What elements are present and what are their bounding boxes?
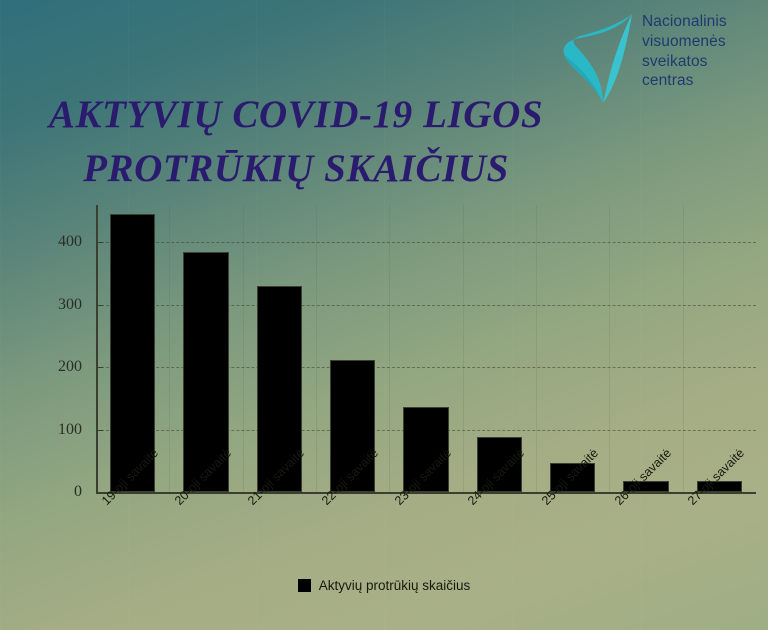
logo-text: Nacionalinis visuomenės sveikatos centra…	[642, 12, 727, 91]
chart-legend: Aktyvių protrūkių skaičius	[0, 578, 768, 593]
title-line-1: AKTYVIŲ COVID-19 LIGOS	[0, 88, 592, 142]
vertical-gridline	[243, 205, 244, 492]
gridline-400	[96, 242, 756, 243]
nvsc-swoosh-logo-icon	[562, 8, 636, 104]
vertical-gridline	[463, 205, 464, 492]
y-axis-label-0: 0	[74, 483, 96, 501]
y-tick-200	[96, 367, 103, 368]
y-axis-label-100: 100	[58, 421, 96, 439]
y-axis-label-300: 300	[58, 296, 96, 314]
legend-swatch-icon	[298, 579, 311, 592]
y-tick-400	[96, 242, 103, 243]
bar-chart: 0100200300400 19-oji savaitė20-oji savai…	[0, 196, 768, 630]
vertical-gridline	[389, 205, 390, 492]
y-axis-label-200: 200	[58, 358, 96, 376]
vertical-gridline	[609, 205, 610, 492]
organization-logo: Nacionalinis visuomenės sveikatos centra…	[562, 8, 762, 106]
y-tick-100	[96, 430, 103, 431]
slide-canvas: Nacionalinis visuomenės sveikatos centra…	[0, 0, 768, 630]
vertical-gridline	[683, 205, 684, 492]
vertical-gridline	[536, 205, 537, 492]
legend-label: Aktyvių protrūkių skaičius	[319, 578, 471, 593]
y-axis-label-400: 400	[58, 233, 96, 251]
title-line-2: PROTRŪKIŲ SKAIČIUS	[0, 142, 592, 196]
vertical-gridline	[169, 205, 170, 492]
page-title: AKTYVIŲ COVID-19 LIGOS PROTRŪKIŲ SKAIČIU…	[0, 88, 592, 196]
y-tick-0	[96, 492, 103, 493]
y-axis-line	[96, 205, 98, 492]
plot-area	[96, 205, 756, 492]
y-tick-300	[96, 305, 103, 306]
vertical-gridline	[316, 205, 317, 492]
